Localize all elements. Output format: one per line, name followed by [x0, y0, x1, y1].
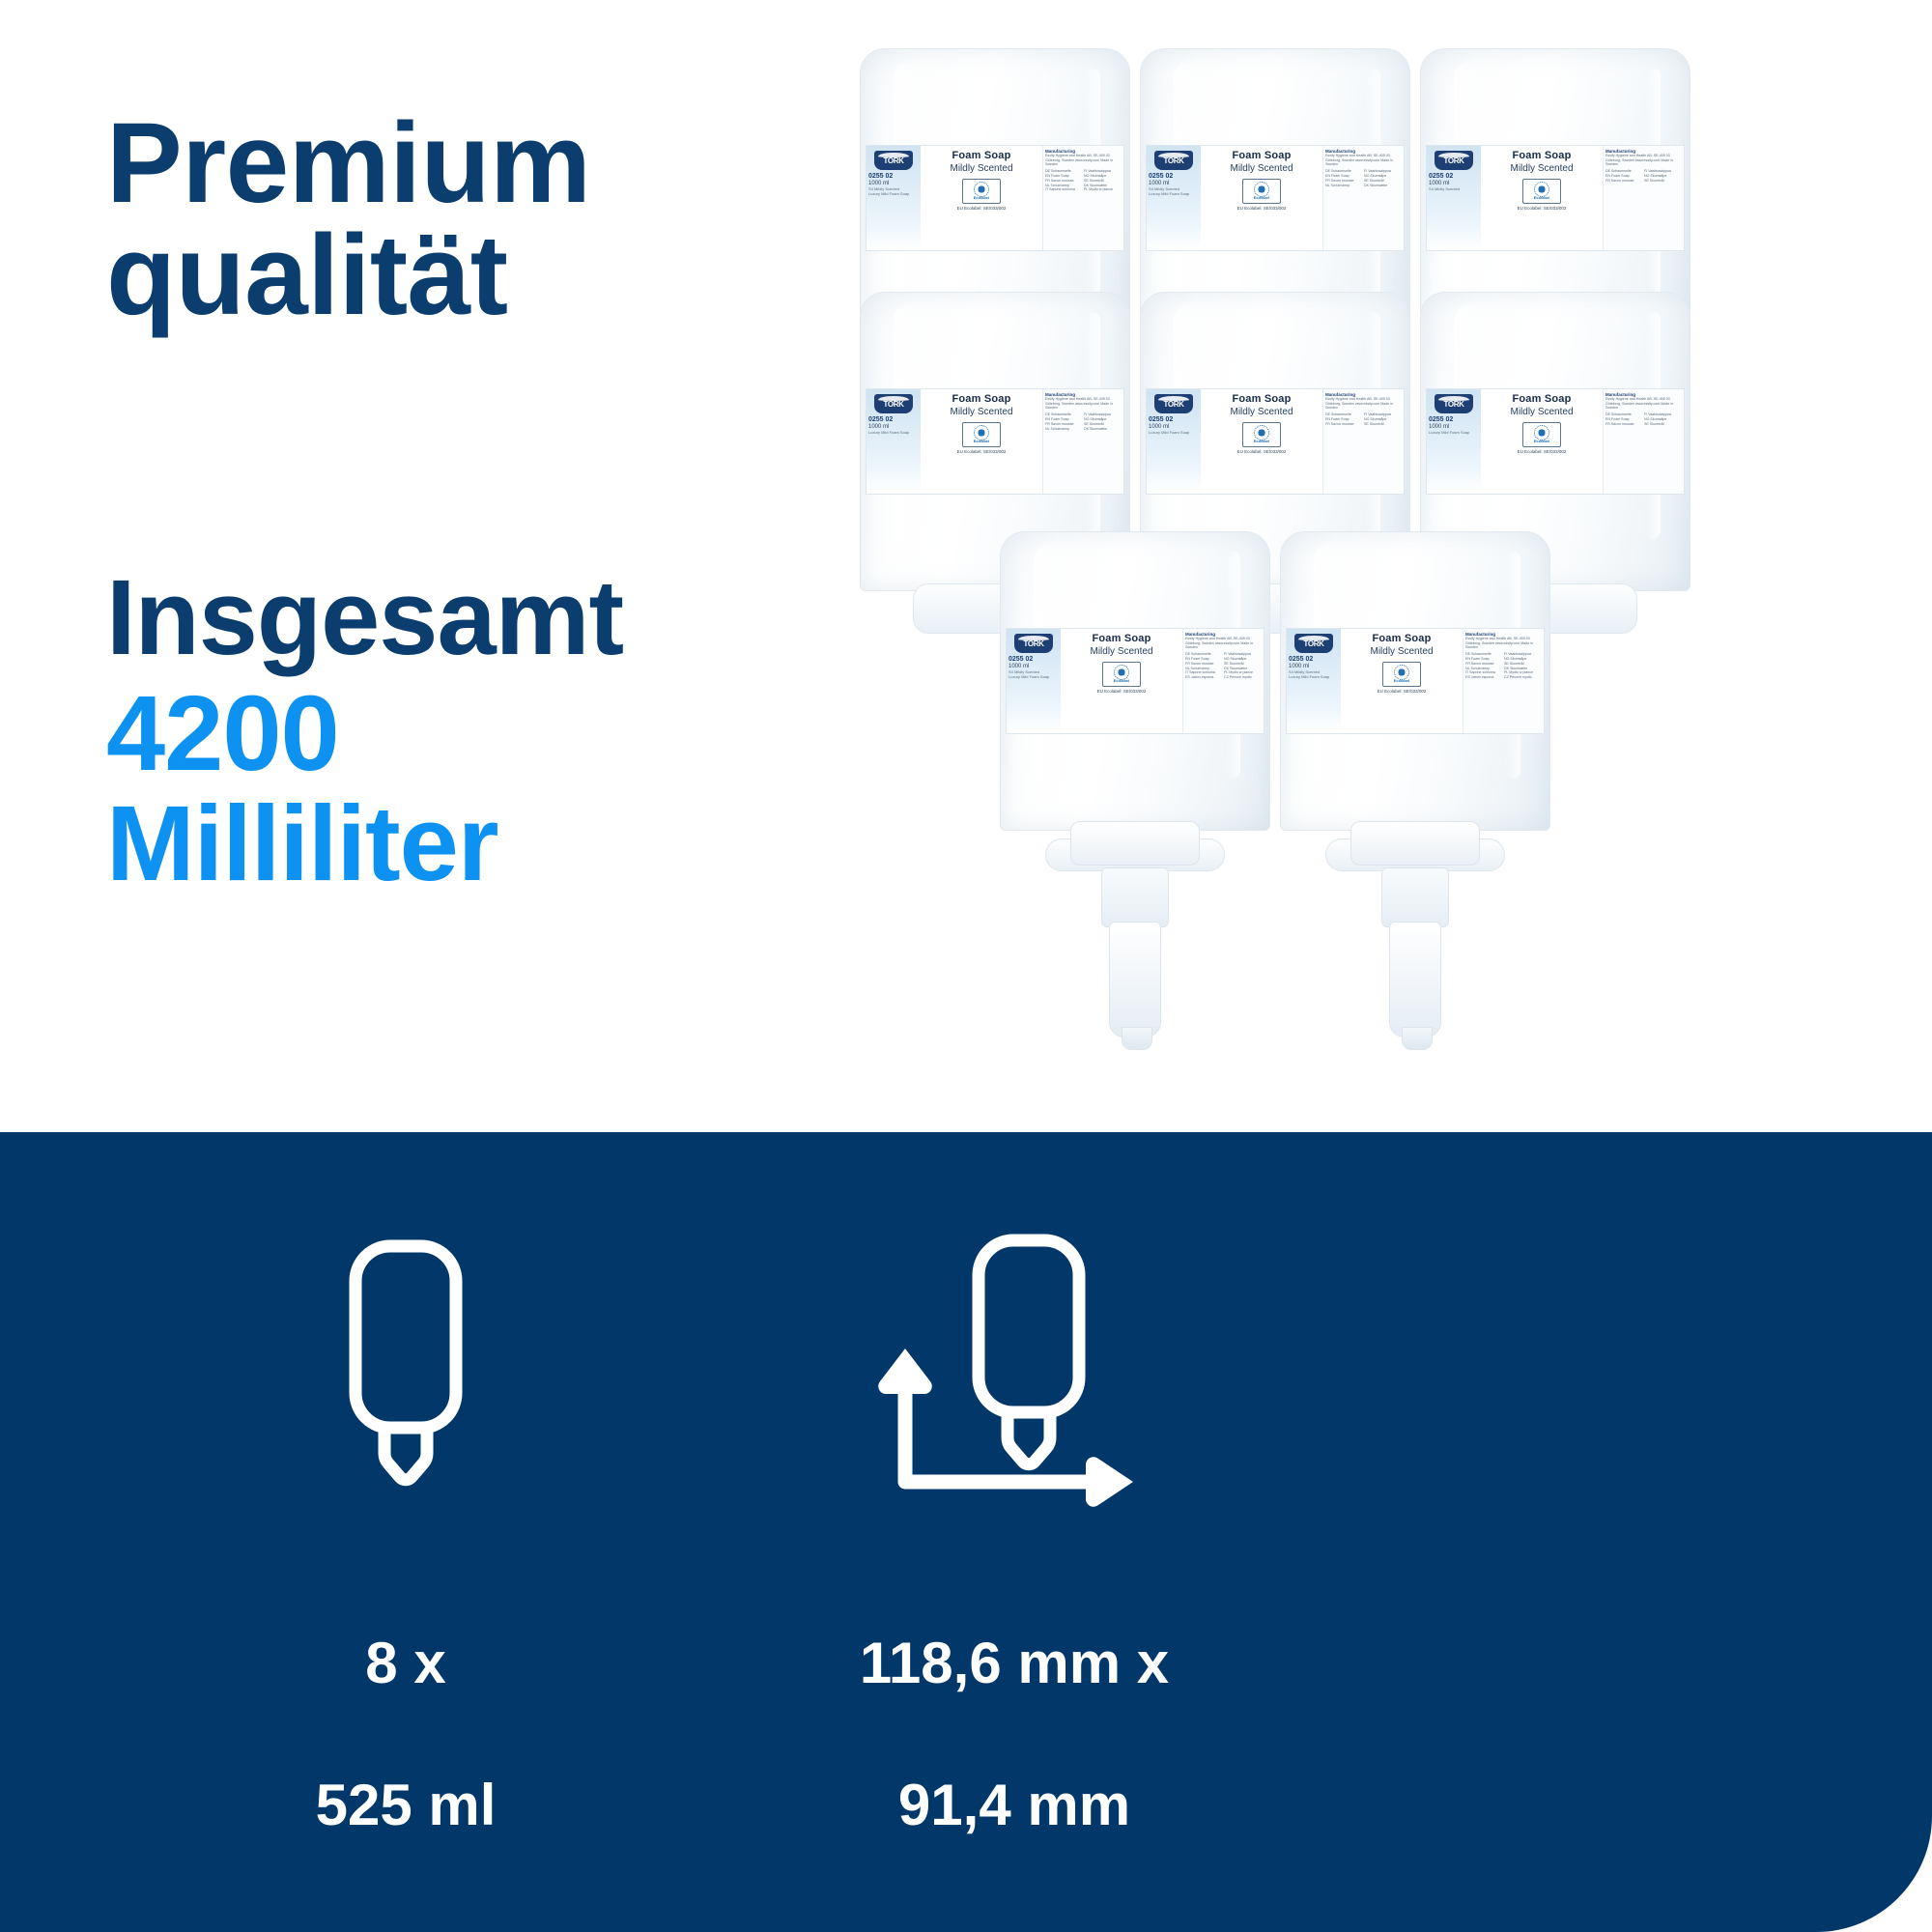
language-list: DE Schaumseife FI Vaahtosaippua EN Foam …	[1325, 412, 1402, 427]
info-text: Essity Hygiene and Health AB, SE-405 03 …	[1045, 397, 1122, 411]
soap-bottle-icon	[174, 1219, 638, 1519]
tork-logo-icon: TORK	[1154, 394, 1193, 413]
pump-nozzle	[1109, 922, 1161, 1037]
pump-collar	[1350, 821, 1480, 866]
subhead-amount-value: 4200	[106, 679, 879, 789]
headline-line-1: Premium	[106, 99, 590, 227]
article-code: 0255 02	[868, 173, 919, 181]
ecolabel-badge-icon: Ecolabel	[1242, 179, 1281, 204]
pump-neck	[1101, 867, 1169, 927]
tork-logo-icon: TORK	[1435, 394, 1473, 413]
product-name: Foam Soap	[923, 393, 1039, 405]
brand-name: TORK	[884, 156, 904, 165]
ecolabel-badge-icon: Ecolabel	[1522, 422, 1561, 447]
bottle-label: TORK 0255 02 1000 ml S4 Mildly Scented L…	[1006, 628, 1264, 734]
ecolabel-registration: EU Ecolabel: SE/033/002	[1344, 689, 1460, 694]
ecolabel-badge-icon: Ecolabel	[1522, 179, 1561, 204]
eu-flower-icon	[1536, 184, 1548, 195]
label-middle-column: Foam Soap Mildly Scented Ecolabel EU Eco…	[921, 389, 1042, 494]
label-left-column: TORK 0255 02 1000 ml S4 Mildly Scented L…	[1007, 629, 1061, 733]
language-list: DE Schaumseife FI Vaahtosaippua EN Foam …	[1185, 652, 1262, 680]
tork-logo-icon: TORK	[1435, 151, 1473, 170]
tork-logo-icon: TORK	[874, 394, 913, 413]
descriptor: Luxury Mild Foam Soap	[1289, 674, 1339, 679]
brand-name: TORK	[1444, 156, 1464, 165]
product-bottle-front: TORK 0255 02 1000 ml S4 Mildly Scented L…	[1270, 531, 1560, 836]
brand-name: TORK	[1444, 400, 1464, 409]
feature-dimension-line1: 118,6 mm x	[676, 1628, 1352, 1698]
descriptor: Luxury Mild Foam Soap	[1149, 191, 1199, 196]
label-left-column: TORK 0255 02 1000 ml Luxury Mild Foam So…	[867, 389, 921, 494]
info-text: Essity Hygiene and Health AB, SE-405 03 …	[1185, 637, 1262, 650]
brand-name: TORK	[1164, 156, 1184, 165]
label-right-column: Manufacturing Essity Hygiene and Health …	[1322, 146, 1404, 250]
product-image: TORK 0255 02 1000 ml S4 Mildly Scented L…	[850, 29, 1826, 1072]
info-text: Essity Hygiene and Health AB, SE-405 03 …	[1045, 154, 1122, 167]
top-white-panel: Premium qualität Insgesamt 4200 Millilit…	[0, 0, 1932, 1132]
ecolabel-registration: EU Ecolabel: SE/033/002	[923, 206, 1039, 211]
ecolabel-registration: EU Ecolabel: SE/033/002	[1204, 206, 1320, 211]
language-item: NL Schuimzeep	[1045, 427, 1080, 432]
language-item: SE Skumtvål	[1364, 422, 1399, 427]
label-right-column: Manufacturing Essity Hygiene and Health …	[1603, 389, 1684, 494]
language-item: DK Skumsæbe	[1084, 427, 1119, 432]
language-list: DE Schaumseife FI Vaahtosaippua EN Foam …	[1325, 169, 1402, 187]
product-variant: Mildly Scented	[1204, 163, 1320, 174]
label-right-column: Manufacturing Essity Hygiene and Health …	[1042, 389, 1123, 494]
bottle-label: TORK 0255 02 1000 ml S4 Mildly Scented L…	[1146, 145, 1405, 251]
ecolabel-registration: EU Ecolabel: SE/033/002	[1064, 689, 1179, 694]
tork-logo-icon: TORK	[1154, 151, 1193, 170]
eu-flower-icon	[1116, 667, 1127, 678]
article-code: 0255 02	[1429, 416, 1479, 424]
pump-dispenser	[1063, 821, 1207, 1063]
article-code: 0255 02	[868, 416, 919, 424]
label-right-column: Manufacturing Essity Hygiene and Health …	[1603, 146, 1684, 250]
product-variant: Mildly Scented	[1344, 646, 1460, 657]
info-text: Essity Hygiene and Health AB, SE-405 03 …	[1325, 154, 1402, 167]
bottom-dark-panel: 8 x 525 ml 118,6 mm x 91,4 mm	[0, 1132, 1932, 1932]
label-left-column: TORK 0255 02 1000 ml Luxury Mild Foam So…	[1147, 389, 1201, 494]
language-list: DE Schaumseife FI Vaahtosaippua EN Foam …	[1605, 169, 1682, 184]
bottle-label: TORK 0255 02 1000 ml S4 Mildly Scented L…	[1286, 628, 1545, 734]
label-left-column: TORK 0255 02 1000 ml S4 Mildly Scented	[1427, 146, 1481, 250]
ecolabel-registration: EU Ecolabel: SE/033/002	[1484, 206, 1600, 211]
article-code: 0255 02	[1289, 656, 1339, 664]
language-item: IT Sapone schiuma	[1045, 187, 1080, 192]
variant-small: S4 Mildly Scented	[1429, 186, 1479, 191]
language-item: SE Skumtvål	[1644, 179, 1679, 184]
article-code: 0255 02	[1429, 173, 1479, 181]
pump-collar	[1070, 821, 1200, 866]
bottle-label: TORK 0255 02 1000 ml Luxury Mild Foam So…	[1426, 388, 1685, 495]
label-middle-column: Foam Soap Mildly Scented Ecolabel EU Eco…	[1201, 146, 1322, 250]
label-left-column: TORK 0255 02 1000 ml S4 Mildly Scented L…	[1287, 629, 1341, 733]
bottle-label: TORK 0255 02 1000 ml Luxury Mild Foam So…	[866, 388, 1124, 495]
label-right-column: Manufacturing Essity Hygiene and Health …	[1042, 146, 1123, 250]
product-variant: Mildly Scented	[1064, 646, 1179, 657]
ecolabel-registration: EU Ecolabel: SE/033/002	[1484, 449, 1600, 454]
ecolabel-registration: EU Ecolabel: SE/033/002	[1204, 449, 1320, 454]
brand-name: TORK	[1024, 639, 1044, 648]
info-text: Essity Hygiene and Health AB, SE-405 03 …	[1465, 637, 1542, 650]
language-item: ES Jabón espuma	[1465, 675, 1500, 680]
language-item: NL Schuimzeep	[1325, 184, 1360, 188]
label-right-column: Manufacturing Essity Hygiene and Health …	[1463, 629, 1544, 733]
brand-name: TORK	[884, 400, 904, 409]
headline-block: Premium qualität	[106, 108, 840, 331]
subhead-label: Insgesamt	[106, 565, 879, 671]
descriptor: Luxury Mild Foam Soap	[1149, 430, 1199, 435]
feature-volume-line1: 8 x	[174, 1628, 638, 1698]
label-middle-column: Foam Soap Mildly Scented Ecolabel EU Eco…	[1481, 389, 1603, 494]
subhead-block: Insgesamt 4200 Milliliter	[106, 565, 879, 900]
bottle-label: TORK 0255 02 1000 ml S4 Mildly Scented L…	[866, 145, 1124, 251]
language-list: DE Schaumseife FI Vaahtosaippua EN Foam …	[1045, 412, 1122, 431]
product-variant: Mildly Scented	[1204, 407, 1320, 417]
product-name: Foam Soap	[923, 150, 1039, 161]
label-middle-column: Foam Soap Mildly Scented Ecolabel EU Eco…	[1201, 389, 1322, 494]
eu-flower-icon	[1256, 427, 1267, 439]
product-variant: Mildly Scented	[923, 163, 1039, 174]
eu-flower-icon	[1536, 427, 1548, 439]
info-text: Essity Hygiene and Health AB, SE-405 03 …	[1325, 397, 1402, 411]
feature-dimension-line2: 91,4 mm	[676, 1770, 1352, 1840]
language-list: DE Schaumseife FI Vaahtosaippua EN Foam …	[1465, 652, 1542, 680]
language-list: DE Schaumseife FI Vaahtosaippua EN Foam …	[1045, 169, 1122, 192]
article-code: 0255 02	[1009, 656, 1059, 664]
brand-name: TORK	[1164, 400, 1184, 409]
label-middle-column: Foam Soap Mildly Scented Ecolabel EU Eco…	[1061, 629, 1182, 733]
product-variant: Mildly Scented	[1484, 407, 1600, 417]
feature-volume-line2: 525 ml	[174, 1770, 638, 1840]
language-item: ES Jabón espuma	[1185, 675, 1220, 680]
article-code: 0255 02	[1149, 416, 1199, 424]
label-left-column: TORK 0255 02 1000 ml S4 Mildly Scented L…	[1147, 146, 1201, 250]
eu-flower-icon	[1396, 667, 1407, 678]
ecolabel-badge-icon: Ecolabel	[1102, 662, 1141, 687]
bottle-label: TORK 0255 02 1000 ml Luxury Mild Foam So…	[1146, 388, 1405, 495]
language-item: DK Skumsæbe	[1364, 184, 1399, 188]
subhead-amount-unit: Milliliter	[106, 789, 879, 899]
language-item: CZ Pěnové mýdlo	[1224, 675, 1259, 680]
descriptor: Luxury Mild Foam Soap	[868, 430, 919, 435]
label-left-column: TORK 0255 02 1000 ml Luxury Mild Foam So…	[1427, 389, 1481, 494]
product-variant: Mildly Scented	[923, 407, 1039, 417]
language-item: PL Mydło w piance	[1084, 187, 1119, 192]
label-middle-column: Foam Soap Mildly Scented Ecolabel EU Eco…	[1341, 629, 1463, 733]
headline-line-2: qualität	[106, 220, 840, 332]
label-left-column: TORK 0255 02 1000 ml S4 Mildly Scented L…	[867, 146, 921, 250]
language-item: SE Skumtvål	[1644, 422, 1679, 427]
feature-dimension: 118,6 mm x 91,4 mm	[676, 1219, 1352, 1911]
tork-logo-icon: TORK	[1294, 634, 1333, 653]
article-code: 0255 02	[1149, 173, 1199, 181]
descriptor: Luxury Mild Foam Soap	[1009, 674, 1059, 679]
language-item: FR Savon mousse	[1605, 179, 1640, 184]
product-name: Foam Soap	[1204, 393, 1320, 405]
product-name: Foam Soap	[1064, 633, 1179, 644]
eu-flower-icon	[1256, 184, 1267, 195]
ecolabel-badge-icon: Ecolabel	[1242, 422, 1281, 447]
ecolabel-badge-icon: Ecolabel	[962, 422, 1001, 447]
label-right-column: Manufacturing Essity Hygiene and Health …	[1182, 629, 1264, 733]
info-text: Essity Hygiene and Health AB, SE-405 03 …	[1605, 154, 1682, 167]
language-item: FR Savon mousse	[1325, 422, 1360, 427]
descriptor: Luxury Mild Foam Soap	[868, 191, 919, 196]
descriptor: Luxury Mild Foam Soap	[1429, 430, 1479, 435]
language-item: FR Savon mousse	[1605, 422, 1640, 427]
label-middle-column: Foam Soap Mildly Scented Ecolabel EU Eco…	[1481, 146, 1603, 250]
info-text: Essity Hygiene and Health AB, SE-405 03 …	[1605, 397, 1682, 411]
pump-neck	[1381, 867, 1449, 927]
bottle-dimension-arrows-icon	[676, 1219, 1352, 1519]
ecolabel-registration: EU Ecolabel: SE/033/002	[923, 449, 1039, 454]
product-name: Foam Soap	[1204, 150, 1320, 161]
language-item: CZ Pěnové mýdlo	[1504, 675, 1539, 680]
subhead-amount: 4200 Milliliter	[106, 679, 879, 900]
ecolabel-badge-icon: Ecolabel	[962, 179, 1001, 204]
label-middle-column: Foam Soap Mildly Scented Ecolabel EU Eco…	[921, 146, 1042, 250]
language-list: DE Schaumseife FI Vaahtosaippua EN Foam …	[1605, 412, 1682, 427]
product-name: Foam Soap	[1484, 393, 1600, 405]
feature-dimension-label: 118,6 mm x 91,4 mm	[676, 1557, 1352, 1911]
pump-nozzle	[1389, 922, 1441, 1037]
feature-volume-label: 8 x 525 ml	[174, 1557, 638, 1911]
page-title: Premium qualität	[106, 108, 840, 331]
feature-volume: 8 x 525 ml	[174, 1219, 638, 1911]
pump-dispenser	[1343, 821, 1488, 1063]
product-name: Foam Soap	[1344, 633, 1460, 644]
tork-logo-icon: TORK	[1014, 634, 1053, 653]
product-bottle-front: TORK 0255 02 1000 ml S4 Mildly Scented L…	[990, 531, 1280, 836]
ecolabel-badge-icon: Ecolabel	[1382, 662, 1421, 687]
bottle-label: TORK 0255 02 1000 ml S4 Mildly Scented F…	[1426, 145, 1685, 251]
tork-logo-icon: TORK	[874, 151, 913, 170]
product-variant: Mildly Scented	[1484, 163, 1600, 174]
label-right-column: Manufacturing Essity Hygiene and Health …	[1322, 389, 1404, 494]
eu-flower-icon	[976, 427, 987, 439]
feature-row: 8 x 525 ml 118,6 mm x 91,4 mm	[0, 1132, 1932, 1932]
product-name: Foam Soap	[1484, 150, 1600, 161]
brand-name: TORK	[1304, 639, 1324, 648]
eu-flower-icon	[976, 184, 987, 195]
